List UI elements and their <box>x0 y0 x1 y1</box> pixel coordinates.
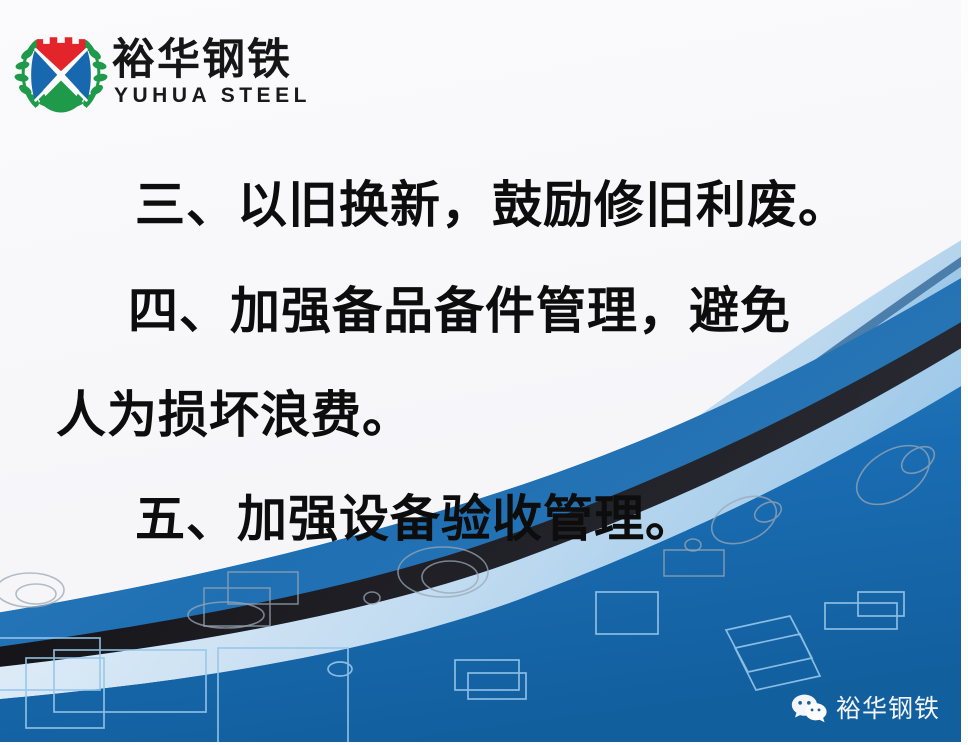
logo-name-cn: 裕华钢铁 <box>112 38 311 83</box>
content-line-1: 三、以旧换新，鼓励修旧利废。 <box>135 180 968 230</box>
company-logo: 裕华钢铁 YUHUA STEEL <box>14 26 311 120</box>
content-line-4: 五、加强设备验收管理。 <box>135 494 968 544</box>
shield-laurel-emblem-icon <box>14 26 108 120</box>
wechat-watermark: 裕华钢铁 <box>791 693 940 723</box>
slide-body-text: 三、以旧换新，鼓励修旧利废。 四、加强备品备件管理，避免 人为损坏浪费。 五、加… <box>0 168 968 544</box>
wechat-icon <box>791 693 829 723</box>
wechat-account-name: 裕华钢铁 <box>836 696 940 721</box>
content-line-3: 人为损坏浪费。 <box>56 390 968 440</box>
logo-name-en: YUHUA STEEL <box>114 84 311 108</box>
circle-outline <box>16 584 56 604</box>
slide-canvas: 裕华钢铁 YUHUA STEEL 三、以旧换新，鼓励修旧利废。 四、加强备品备件… <box>0 0 968 745</box>
content-line-2: 四、加强备品备件管理，避免 <box>128 286 968 336</box>
logo-text-block: 裕华钢铁 YUHUA STEEL <box>112 38 311 108</box>
